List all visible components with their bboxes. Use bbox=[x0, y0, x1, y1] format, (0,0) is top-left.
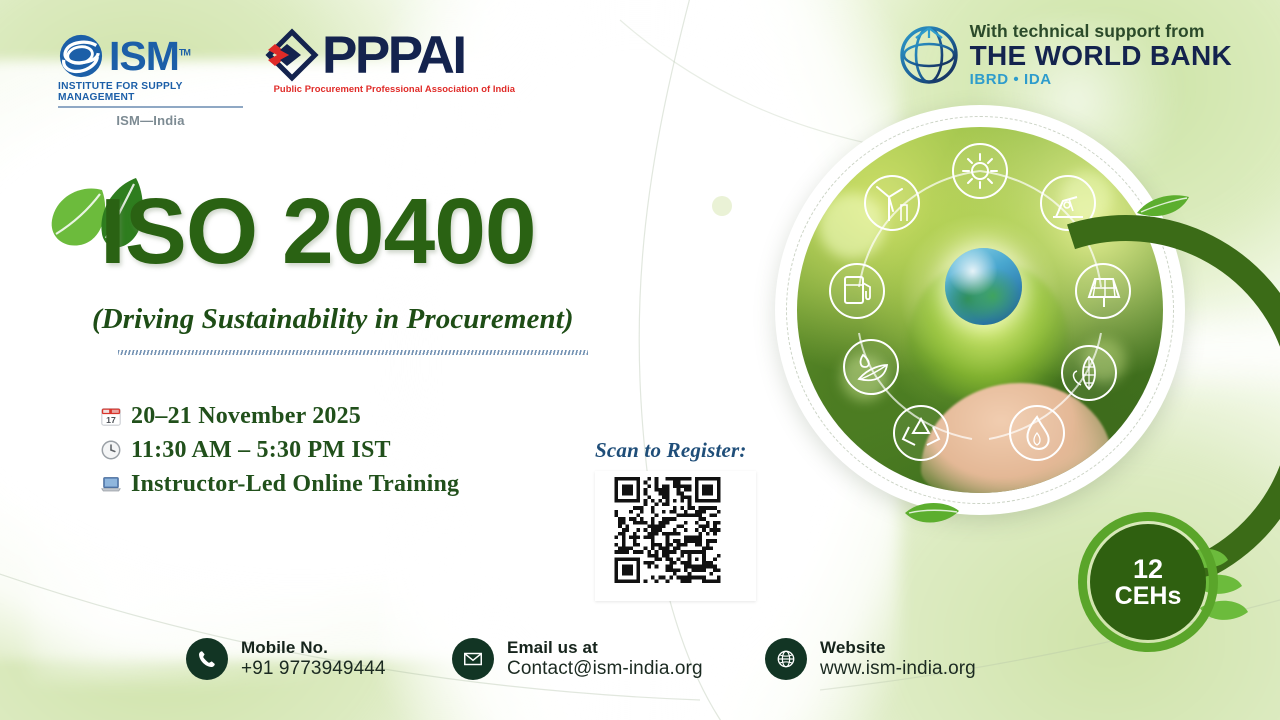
footer-label-mobile: Mobile No. bbox=[241, 638, 386, 658]
water-leaf-icon bbox=[844, 340, 898, 394]
event-details-list: 17 20–21 November 2025 11:30 AM – 5:30 P… bbox=[100, 399, 459, 501]
detail-text-format: Instructor-Led Online Training bbox=[131, 471, 459, 498]
calendar-icon: 17 bbox=[100, 405, 122, 427]
globe-icon bbox=[765, 638, 807, 680]
poster-canvas: ISMTM INSTITUTE FOR SUPPLY MANAGEMENT IS… bbox=[0, 0, 1280, 720]
ism-trademark: TM bbox=[179, 47, 190, 57]
flame-icon bbox=[1010, 406, 1064, 460]
footer-item-website[interactable]: Website www.ism-india.org bbox=[765, 638, 976, 680]
laptop-icon bbox=[100, 473, 122, 495]
decorative-dot bbox=[712, 196, 732, 216]
chevron-diamond-icon bbox=[265, 28, 319, 82]
clock-icon bbox=[100, 439, 122, 461]
detail-row-date: 17 20–21 November 2025 bbox=[100, 399, 459, 433]
footer-item-email[interactable]: Email us at Contact@ism-india.org bbox=[452, 638, 703, 680]
qr-code-icon[interactable] bbox=[603, 477, 732, 583]
detail-text-time: 11:30 AM – 5:30 PM IST bbox=[131, 437, 391, 464]
fuel-pump-icon bbox=[830, 264, 884, 318]
title-divider bbox=[118, 350, 588, 355]
ceh-number: 12 bbox=[1133, 555, 1163, 583]
qr-card[interactable] bbox=[595, 471, 756, 601]
recycle-icon bbox=[894, 406, 948, 460]
ism-divider bbox=[58, 106, 243, 108]
detail-row-format: Instructor-Led Online Training bbox=[100, 467, 459, 501]
wind-turbine-icon bbox=[865, 176, 919, 230]
page-title: ISO 20400 bbox=[100, 185, 536, 278]
corn-icon bbox=[1062, 346, 1116, 400]
sun-icon bbox=[953, 144, 1007, 198]
pppai-wordmark: PPPAI bbox=[322, 29, 465, 82]
footer-label-email: Email us at bbox=[507, 638, 703, 658]
ceh-badge-core: 12 CEHs bbox=[1090, 524, 1206, 640]
footer-value-website: www.ism-india.org bbox=[820, 658, 976, 680]
page-subtitle: (Driving Sustainability in Procurement) bbox=[92, 303, 574, 336]
phone-icon bbox=[186, 638, 228, 680]
world-bank-divisions: IBRD • IDA bbox=[970, 72, 1232, 88]
logo-world-bank: With technical support from THE WORLD BA… bbox=[898, 22, 1232, 88]
ceh-label: CEHs bbox=[1115, 583, 1182, 609]
pppai-tagline: Public Procurement Professional Associat… bbox=[265, 83, 515, 94]
logo-ism: ISMTM INSTITUTE FOR SUPPLY MANAGEMENT IS… bbox=[58, 33, 243, 128]
detail-text-date: 20–21 November 2025 bbox=[131, 403, 361, 430]
globe-grid-icon bbox=[898, 24, 960, 86]
svg-text:17: 17 bbox=[106, 415, 116, 425]
world-bank-support-line: With technical support from bbox=[970, 22, 1232, 40]
logo-pppai: PPPAI Public Procurement Professional As… bbox=[265, 28, 515, 94]
ism-subtitle: INSTITUTE FOR SUPPLY MANAGEMENT bbox=[58, 81, 243, 103]
ism-region-label: ISM—India bbox=[58, 113, 243, 128]
ism-swirl-icon bbox=[58, 33, 104, 79]
footer-label-website: Website bbox=[820, 638, 976, 658]
footer-item-mobile[interactable]: Mobile No. +91 9773949444 bbox=[186, 638, 386, 680]
hero-leaf-bottom-icon bbox=[903, 499, 961, 529]
ism-word-text: ISM bbox=[109, 33, 179, 79]
footer-value-email: Contact@ism-india.org bbox=[507, 658, 703, 680]
world-bank-name: THE WORLD BANK bbox=[970, 41, 1232, 70]
envelope-icon bbox=[452, 638, 494, 680]
footer-contact-bar: Mobile No. +91 9773949444 Email us at Co… bbox=[0, 630, 1280, 700]
detail-row-time: 11:30 AM – 5:30 PM IST bbox=[100, 433, 459, 467]
footer-value-mobile: +91 9773949444 bbox=[241, 658, 386, 680]
qr-section: Scan to Register: bbox=[595, 438, 756, 601]
logo-row: ISMTM INSTITUTE FOR SUPPLY MANAGEMENT IS… bbox=[0, 0, 1280, 120]
ism-wordmark: ISMTM bbox=[109, 36, 190, 77]
qr-label: Scan to Register: bbox=[595, 438, 756, 463]
